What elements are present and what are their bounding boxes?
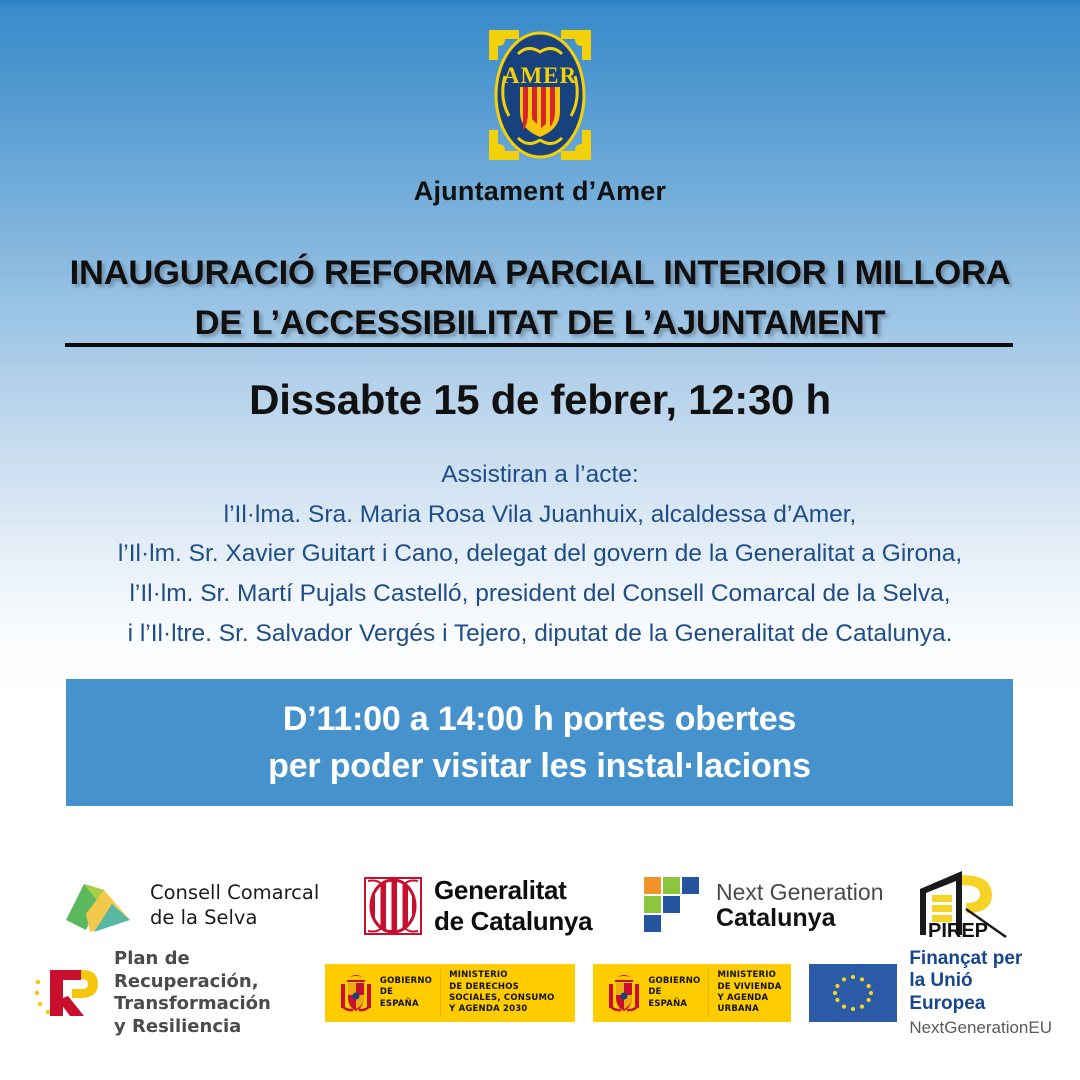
ngc-line-2: Catalunya bbox=[716, 905, 883, 933]
ministerio-label: MINISTERIO DE DERECHOS SOCIALES, CONSUMO… bbox=[449, 970, 569, 1016]
gen-line-1: Generalitat bbox=[434, 875, 567, 905]
gob-line-1: GOBIERNO bbox=[648, 976, 700, 986]
event-date: Dissabte 15 de febrer, 12:30 h bbox=[0, 376, 1080, 424]
gobierno-espana-label: GOBIERNO DE ESPAÑA bbox=[648, 976, 700, 1009]
eu-line-3: NextGenerationEU bbox=[909, 1018, 1052, 1038]
ministerio-label: MINISTERIO DE VIVIENDA Y AGENDA URBANA bbox=[717, 970, 785, 1016]
min-line-1: MINISTERIO bbox=[449, 970, 508, 980]
gob-line-1: GOBIERNO bbox=[380, 976, 432, 986]
logo-row-primary: Consell Comarcal de la Selva bbox=[60, 856, 1025, 956]
attendees-block: Assistiran a l’acte: l’Il·lma. Sra. Mari… bbox=[30, 455, 1050, 653]
financat-unio-europea-label: Finançat per la Unió Europea NextGenerat… bbox=[909, 948, 1052, 1039]
min-line-1: MINISTERIO bbox=[717, 970, 776, 980]
amer-coat-of-arms-icon: AMER bbox=[485, 26, 595, 164]
min-line-2: DE DERECHOS SOCIALES, CONSUMO bbox=[449, 982, 555, 1003]
prt-line-1: Plan de Recuperación, bbox=[114, 948, 259, 992]
svg-text:AMER: AMER bbox=[503, 63, 577, 88]
open-doors-banner: D’11:00 a 14:00 h portes obertes per pod… bbox=[66, 679, 1013, 806]
attendee-line: l’Il·lm. Sr. Martí Pujals Castelló, pres… bbox=[30, 574, 1050, 614]
eu-flag-icon bbox=[809, 964, 897, 1022]
consell-comarcal-selva-logo-icon bbox=[60, 874, 136, 938]
next-generation-catalunya-logo-icon bbox=[642, 875, 704, 937]
municipality-name: Ajuntament d’Amer bbox=[0, 176, 1080, 207]
attendee-line: l’Il·lma. Sra. Maria Rosa Vila Juanhuix,… bbox=[30, 495, 1050, 535]
ccs-line-2: de la Selva bbox=[150, 906, 257, 929]
consell-comarcal-selva-label: Consell Comarcal de la Selva bbox=[150, 881, 319, 931]
ngc-line-1: Next Generation bbox=[716, 880, 883, 905]
escudo-espana-icon bbox=[607, 972, 641, 1014]
gobierno-divider bbox=[708, 969, 709, 1017]
min-line-3: Y AGENDA URBANA bbox=[717, 993, 768, 1014]
logo-gobierno-vivienda: GOBIERNO DE ESPAÑA MINISTERIO DE VIVIEND… bbox=[593, 964, 791, 1022]
logo-pirep: PIREP bbox=[910, 865, 1020, 948]
logo-gobierno-derechos-sociales: GOBIERNO DE ESPAÑA MINISTERIO DE DERECHO… bbox=[325, 964, 575, 1022]
generalitat-catalunya-logo-icon bbox=[364, 877, 422, 935]
min-line-2: DE VIVIENDA bbox=[717, 982, 781, 992]
next-generation-catalunya-label: Next Generation Catalunya bbox=[716, 880, 883, 933]
prt-line-2: Transformación bbox=[114, 993, 271, 1014]
logo-consell-comarcal-selva: Consell Comarcal de la Selva bbox=[60, 874, 360, 938]
ccs-line-1: Consell Comarcal bbox=[150, 881, 319, 904]
poster: AMER Ajuntament d’Amer INAUGURACIÓ REFOR… bbox=[0, 0, 1080, 1080]
crest-container: AMER bbox=[0, 26, 1080, 164]
gob-line-2: DE ESPAÑA bbox=[380, 987, 419, 1008]
escudo-espana-icon bbox=[339, 972, 373, 1014]
logo-plan-recuperacion: Plan de Recuperación, Transformación y R… bbox=[32, 948, 315, 1038]
prt-line-3: y Resiliencia bbox=[114, 1016, 241, 1037]
title-divider bbox=[65, 343, 1013, 347]
attendee-line: i l’Il·ltre. Sr. Salvador Vergés i Tejer… bbox=[30, 614, 1050, 654]
plan-recuperacion-logo-icon bbox=[32, 962, 104, 1024]
logo-generalitat-catalunya: Generalitat de Catalunya bbox=[364, 875, 642, 936]
logo-financat-unio-europea: Finançat per la Unió Europea NextGenerat… bbox=[809, 948, 1052, 1039]
min-line-3: Y AGENDA 2030 bbox=[449, 1004, 527, 1014]
attendees-heading: Assistiran a l’acte: bbox=[30, 455, 1050, 495]
title-line-2: DE L’ACCESSIBILITAT DE L’AJUNTAMENT bbox=[60, 298, 1020, 348]
gen-line-2: de Catalunya bbox=[434, 906, 592, 936]
pirep-logo-icon: PIREP bbox=[910, 865, 1014, 948]
svg-text:PIREP: PIREP bbox=[928, 920, 988, 942]
gobierno-espana-label: GOBIERNO DE ESPAÑA bbox=[380, 976, 432, 1009]
attendee-line: l’Il·lm. Sr. Xavier Guitart i Cano, dele… bbox=[30, 534, 1050, 574]
banner-line-2: per poder visitar les instal·lacions bbox=[268, 743, 811, 790]
title-line-1: INAUGURACIÓ REFORMA PARCIAL INTERIOR I M… bbox=[70, 254, 1011, 292]
logo-next-generation-catalunya: Next Generation Catalunya bbox=[642, 875, 910, 937]
page-title: INAUGURACIÓ REFORMA PARCIAL INTERIOR I M… bbox=[60, 248, 1020, 349]
eu-line-2: la Unió Europea bbox=[909, 970, 1052, 1016]
generalitat-catalunya-label: Generalitat de Catalunya bbox=[434, 875, 592, 936]
gob-line-2: DE ESPAÑA bbox=[648, 987, 687, 1008]
gobierno-divider bbox=[440, 969, 441, 1017]
logo-row-secondary: Plan de Recuperación, Transformación y R… bbox=[32, 954, 1052, 1032]
eu-line-1: Finançat per bbox=[909, 948, 1052, 971]
banner-line-1: D’11:00 a 14:00 h portes obertes bbox=[283, 696, 796, 743]
plan-recuperacion-label: Plan de Recuperación, Transformación y R… bbox=[114, 948, 315, 1038]
